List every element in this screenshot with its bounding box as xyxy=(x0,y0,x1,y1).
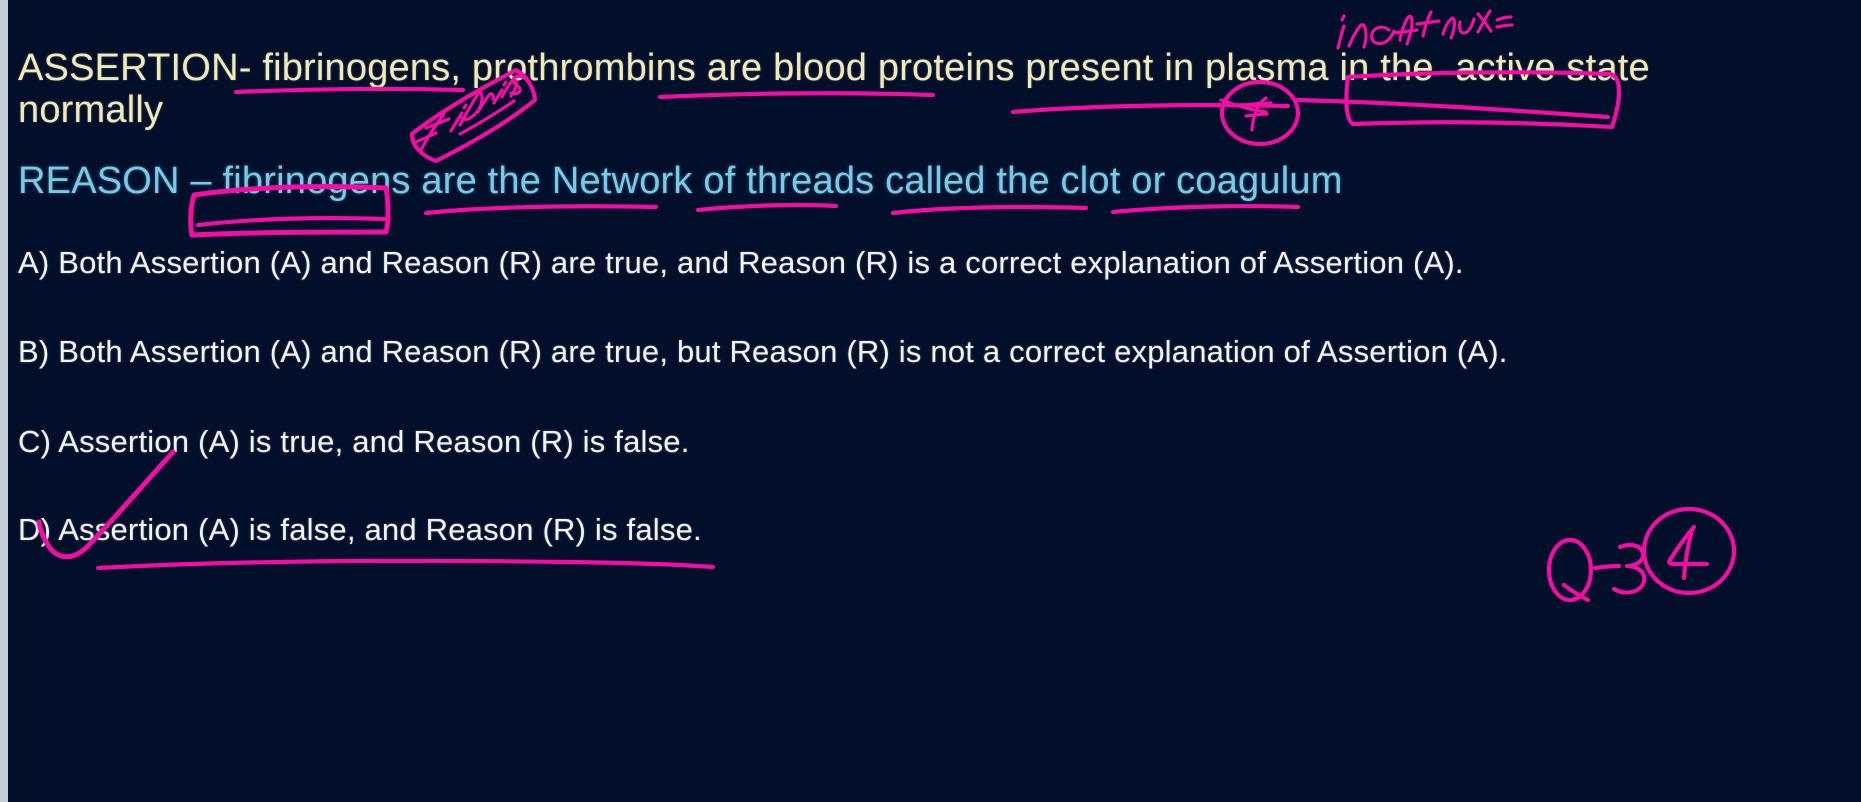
underline-threads xyxy=(698,205,836,210)
option-d[interactable]: D) Assertion (A) is false, and Reason (R… xyxy=(18,512,702,548)
handwritten-label-q3 xyxy=(1549,540,1644,600)
underline-fibrins-word xyxy=(460,101,514,134)
circle-false-mark xyxy=(1222,82,1298,144)
strike-through-active-state xyxy=(1298,100,1608,117)
underline-network-of xyxy=(426,206,656,213)
content-area: ASSERTION- fibrinogens, prothrombins are… xyxy=(8,0,1861,802)
assertion-text-line-1: ASSERTION- fibrinogens, prothrombins are… xyxy=(18,47,1650,90)
option-a[interactable]: A) Both Assertion (A) and Reason (R) are… xyxy=(18,245,1464,281)
reason-text-line: REASON – fibrinogens are the Network of … xyxy=(18,160,1343,203)
handwritten-ink-layer xyxy=(8,0,1861,802)
option-c[interactable]: C) Assertion (A) is true, and Reason (R)… xyxy=(18,424,690,460)
underline-option-d xyxy=(98,561,713,568)
underline-in-plasma xyxy=(1013,105,1288,112)
circle-around-answer xyxy=(1644,509,1734,593)
whiteboard-page: ASSERTION- fibrinogens, prothrombins are… xyxy=(0,0,1861,802)
underline-coagulum xyxy=(1113,206,1298,212)
left-edge-strip xyxy=(0,0,8,802)
digit-four xyxy=(1669,527,1707,578)
false-letter-f xyxy=(1242,98,1271,130)
underline-blood-proteins xyxy=(660,93,933,97)
option-b[interactable]: B) Both Assertion (A) and Reason (R) are… xyxy=(18,334,1508,370)
ink-tail-to-false-circle xyxy=(1221,100,1266,112)
assertion-text-line-2: normally xyxy=(18,89,163,132)
handwritten-circled-answer xyxy=(1644,509,1734,593)
box-fibrinogens-bottom xyxy=(198,218,386,225)
handwritten-note-inactive xyxy=(1338,11,1512,48)
underline-the-clot xyxy=(893,207,1086,213)
